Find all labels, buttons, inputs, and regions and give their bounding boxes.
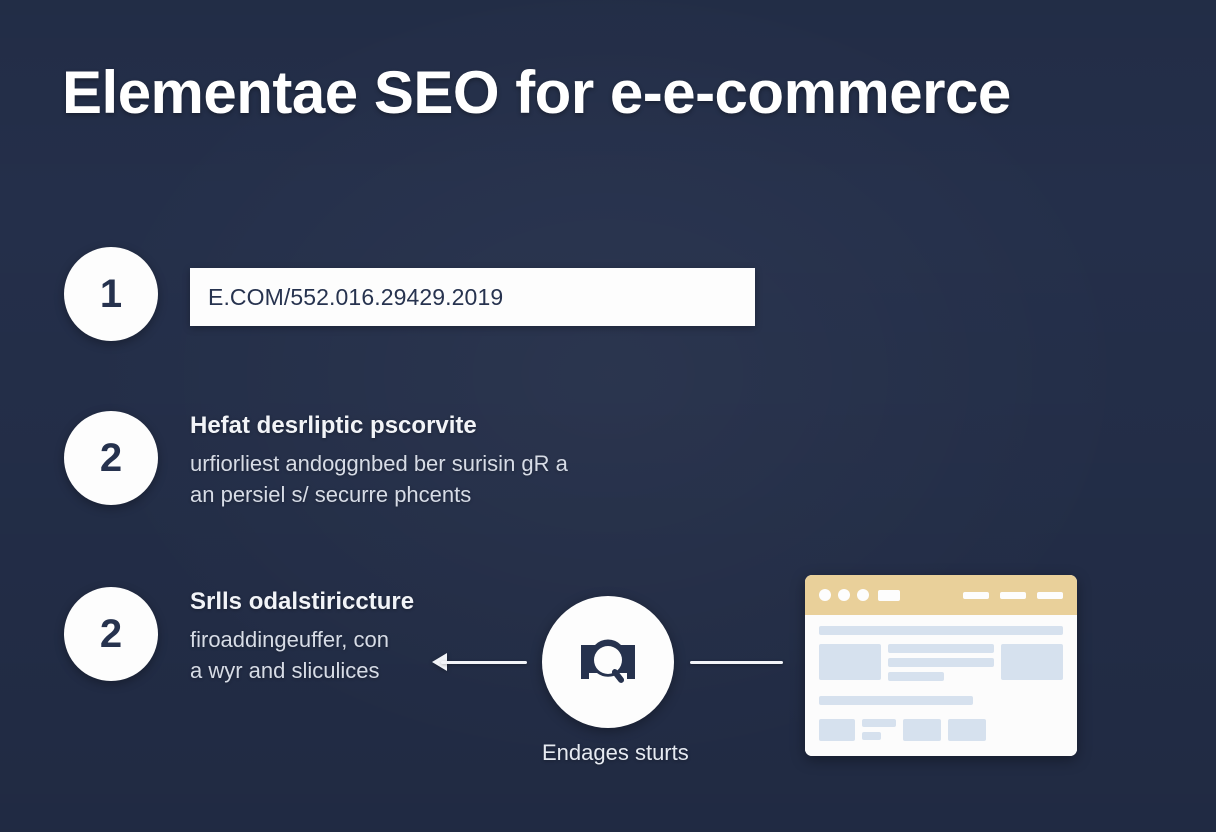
- hero-row: [819, 644, 1063, 681]
- card-placeholder-1: [819, 719, 855, 741]
- step-body-line-2-1: urfiorliest andoggnbed ber surisin gR a: [190, 448, 660, 479]
- browser-nav-group: [963, 592, 1063, 599]
- card-placeholder-4: [948, 719, 986, 741]
- step-item-3: 2: [64, 587, 158, 681]
- hero-text-group: [888, 644, 994, 681]
- window-dot-icon-2: [838, 589, 850, 601]
- card-text-group: [862, 719, 896, 740]
- text-line-placeholder-1: [888, 644, 994, 653]
- step-text-block-2: Hefat desrliptic pscorvite urfiorliest a…: [190, 412, 660, 510]
- nav-dash-icon-1: [963, 592, 989, 599]
- step-heading-3: Srlls odalstiriccture: [190, 588, 460, 616]
- url-input-value: E.COM/552.016.29429.2019: [208, 284, 503, 311]
- step-number-badge-3: 2: [64, 587, 158, 681]
- step-item-2: 2: [64, 411, 158, 505]
- step-text-block-3: Srlls odalstiriccture firoaddingeuffer, …: [190, 588, 460, 686]
- headline-placeholder: [819, 626, 1063, 635]
- connector-line-left: [441, 661, 527, 664]
- connector-line-right: [690, 661, 783, 664]
- browser-window-mockup[interactable]: [805, 575, 1077, 756]
- nav-dash-icon-2: [1000, 592, 1026, 599]
- page-title: Elementae SEO for e-e-commerce: [62, 58, 1011, 127]
- step-number-label-2: 2: [100, 438, 122, 478]
- window-dot-icon-3: [857, 589, 869, 601]
- step-number-label-1: 1: [100, 274, 122, 314]
- step-body-line-3-2: a wyr and sliculices: [190, 655, 460, 686]
- browser-titlebar: [805, 575, 1077, 615]
- step-number-label-3: 2: [100, 614, 122, 654]
- step-body-line-2-2: an persiel s/ securre phcents: [190, 479, 660, 510]
- card-placeholder-3: [903, 719, 941, 741]
- card-text-line-2: [862, 732, 881, 740]
- step-body-line-3-1: firoaddingeuffer, con: [190, 624, 460, 655]
- window-dot-icon-1: [819, 589, 831, 601]
- step-number-badge-1: 1: [64, 247, 158, 341]
- section-heading-placeholder: [819, 696, 973, 705]
- search-badge: Endages sturts: [542, 596, 674, 766]
- search-badge-circle: [542, 596, 674, 728]
- step-heading-2: Hefat desrliptic pscorvite: [190, 412, 660, 440]
- text-line-placeholder-3: [888, 672, 944, 681]
- text-line-placeholder-2: [888, 658, 994, 667]
- nav-dash-icon-3: [1037, 592, 1063, 599]
- cards-row: [819, 719, 1063, 741]
- search-badge-caption: Endages sturts: [542, 740, 674, 766]
- search-banner-icon: [571, 625, 645, 699]
- browser-tab-chip: [878, 590, 900, 601]
- step-number-badge-2: 2: [64, 411, 158, 505]
- step-item-1: 1: [64, 247, 158, 341]
- image-placeholder-left: [819, 644, 881, 680]
- image-placeholder-right: [1001, 644, 1063, 680]
- card-text-line-1: [862, 719, 896, 727]
- browser-content-area: [805, 615, 1077, 756]
- url-input-field[interactable]: E.COM/552.016.29429.2019: [190, 268, 755, 326]
